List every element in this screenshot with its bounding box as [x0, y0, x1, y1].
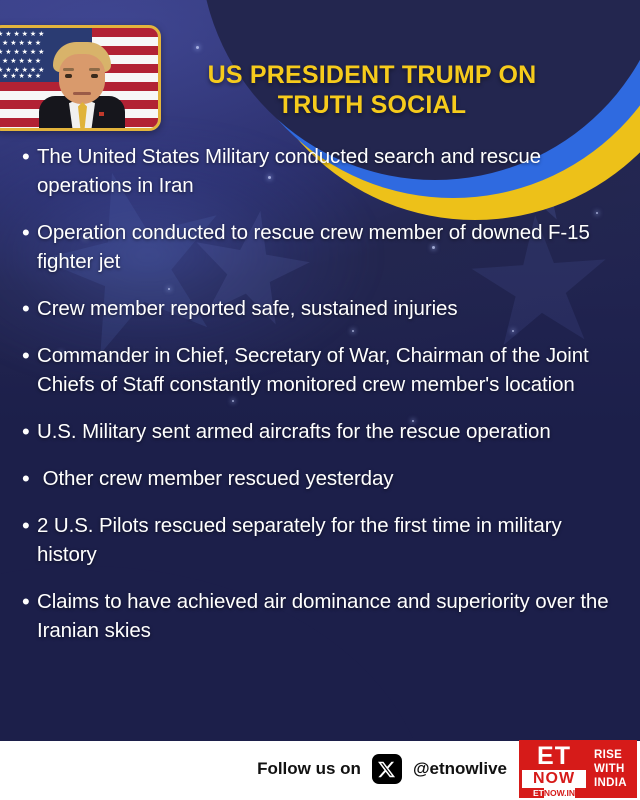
- follow-us-label: Follow us on: [257, 759, 361, 779]
- bullet-marker-icon: •: [22, 294, 37, 323]
- tagline-line-2: WITH: [594, 762, 637, 776]
- x-twitter-icon[interactable]: [372, 754, 402, 784]
- list-item-text: Crew member reported safe, sustained inj…: [37, 294, 458, 323]
- list-item: • Commander in Chief, Secretary of War, …: [22, 341, 622, 399]
- etnow-logo: ET NOW ET NOW.IN RISE WITH INDIA: [519, 740, 637, 798]
- etnow-logo-et: ET: [522, 743, 586, 770]
- list-item-text: Operation conducted to rescue crew membe…: [37, 218, 622, 276]
- list-item-text: Claims to have achieved air dominance an…: [37, 587, 622, 645]
- bullet-marker-icon: •: [22, 587, 37, 616]
- follow-us-group: Follow us on @etnowlive: [257, 754, 507, 784]
- bullet-marker-icon: •: [22, 142, 37, 171]
- etnow-logo-url-prefix: ET: [533, 788, 544, 799]
- tagline-line-3: INDIA: [594, 776, 637, 790]
- bullet-marker-icon: •: [22, 464, 37, 493]
- etnow-logo-url: ET NOW.IN: [522, 788, 586, 799]
- list-item-text: Commander in Chief, Secretary of War, Ch…: [37, 341, 622, 399]
- news-graphic-card: ★ ★ ★ ★ ★ ★ ★ ★ ★ ★ ★ ★ ★ ★ ★ ★ ★ ★ ★ ★ …: [0, 0, 640, 800]
- bullet-list: • The United States Military conducted s…: [22, 142, 622, 663]
- list-item: • Other crew member rescued yesterday: [22, 464, 622, 493]
- bullet-marker-icon: •: [22, 218, 37, 247]
- list-item: • Operation conducted to rescue crew mem…: [22, 218, 622, 276]
- bullet-marker-icon: •: [22, 341, 37, 370]
- bullet-marker-icon: •: [22, 417, 37, 446]
- list-item-text: U.S. Military sent armed aircrafts for t…: [37, 417, 551, 446]
- bullet-marker-icon: •: [22, 511, 37, 540]
- list-item-text: Other crew member rescued yesterday: [37, 464, 393, 493]
- etnow-logo-now: NOW: [522, 770, 586, 788]
- president-photo-card: ★ ★ ★ ★ ★ ★ ★ ★ ★ ★ ★ ★ ★ ★ ★ ★ ★ ★ ★ ★ …: [0, 25, 161, 131]
- page-title-line-1: US PRESIDENT TRUMP ON: [168, 60, 576, 90]
- list-item-text: The United States Military conducted sea…: [37, 142, 622, 200]
- page-title-line-2: TRUTH SOCIAL: [168, 90, 576, 120]
- list-item: • U.S. Military sent armed aircrafts for…: [22, 417, 622, 446]
- footer-bar: Follow us on @etnowlive ET NOW ET NOW.IN…: [0, 738, 640, 800]
- list-item: • Crew member reported safe, sustained i…: [22, 294, 622, 323]
- list-item-text: 2 U.S. Pilots rescued separately for the…: [37, 511, 622, 569]
- etnow-tagline: RISE WITH INDIA: [589, 740, 637, 798]
- list-item: • Claims to have achieved air dominance …: [22, 587, 622, 645]
- list-item: • The United States Military conducted s…: [22, 142, 622, 200]
- president-portrait: [39, 42, 125, 128]
- etnow-logo-mark: ET NOW ET NOW.IN: [519, 740, 589, 798]
- page-title: US PRESIDENT TRUMP ON TRUTH SOCIAL: [168, 60, 576, 120]
- social-handle[interactable]: @etnowlive: [413, 759, 507, 779]
- etnow-logo-url-suffix: NOW.IN: [544, 788, 575, 799]
- list-item: • 2 U.S. Pilots rescued separately for t…: [22, 511, 622, 569]
- tagline-line-1: RISE: [594, 748, 637, 762]
